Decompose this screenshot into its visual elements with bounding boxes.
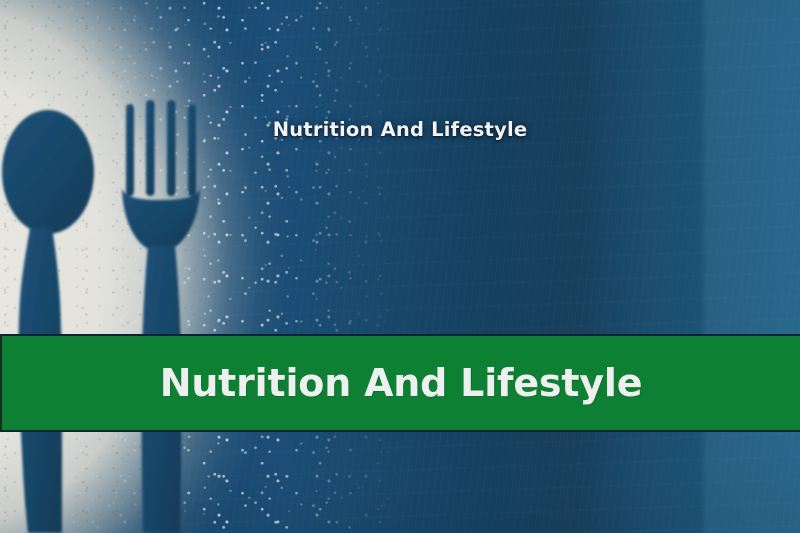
overlay-heading: Nutrition And Lifestyle — [0, 118, 800, 141]
banner-title: Nutrition And Lifestyle — [160, 361, 643, 405]
fork-icon — [122, 100, 200, 533]
title-banner: Nutrition And Lifestyle — [0, 334, 800, 432]
cutlery-silhouettes — [0, 0, 330, 533]
poster-canvas: Nutrition And Lifestyle Nutrition And Li… — [0, 0, 800, 533]
spoon-icon — [2, 110, 94, 533]
